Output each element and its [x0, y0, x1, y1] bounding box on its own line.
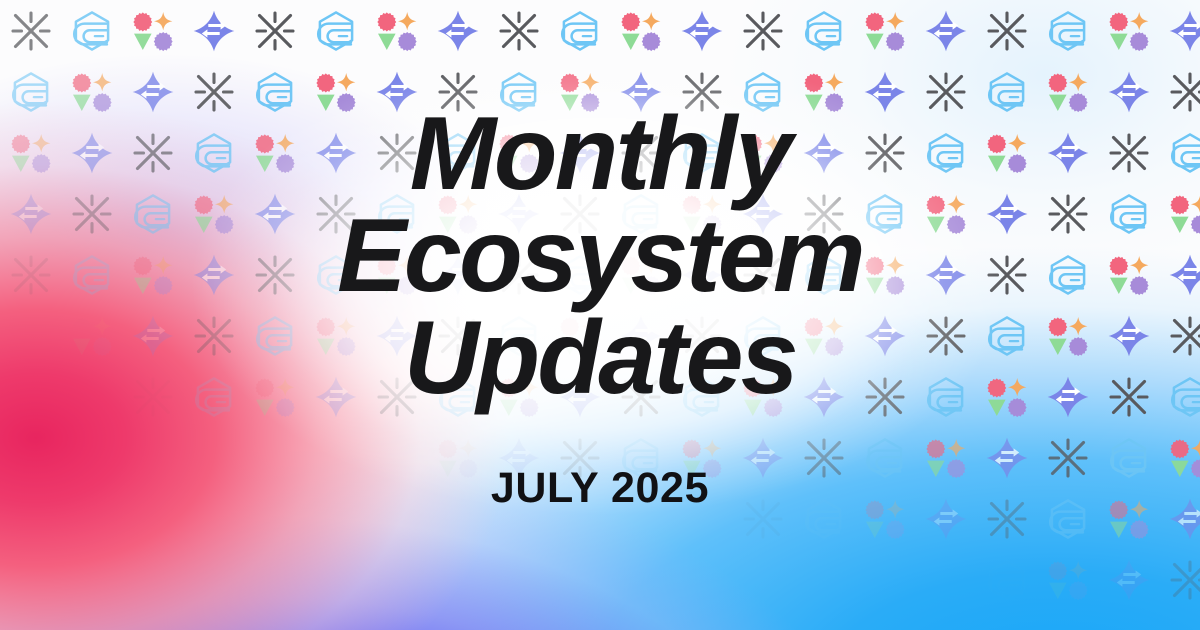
page-subtitle-date: JULY 2025 — [491, 464, 709, 513]
ecosystem-updates-banner: Monthly Ecosystem Updates JULY 2025 — [0, 0, 1200, 630]
banner-content: Monthly Ecosystem Updates JULY 2025 — [0, 0, 1200, 630]
page-title-line-2: Ecosystem — [337, 206, 863, 308]
page-title: Monthly Ecosystem Updates — [337, 104, 863, 410]
page-title-line-1: Monthly — [337, 104, 863, 206]
page-title-line-3: Updates — [337, 308, 863, 410]
